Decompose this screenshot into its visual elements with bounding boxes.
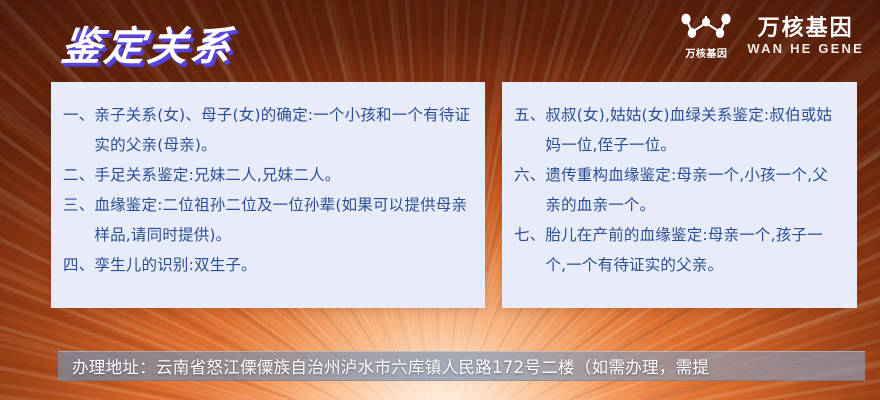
- molecule-nodes-icon: [679, 12, 733, 42]
- list-item-number: 七、: [514, 220, 545, 250]
- brand-name-cn: 万核基因: [758, 17, 854, 41]
- list-item-text: 胎儿在产前的血缘鉴定:母亲一个,孩子一个,一个有待证实的父亲。: [545, 220, 843, 280]
- list-item: 二、 手足关系鉴定:兄妹二人,兄妹二人。: [63, 160, 471, 190]
- brand-name-en: WAN HE GENE: [747, 42, 864, 56]
- list-item-text: 叔叔(女),姑姑(女)血绿关系鉴定:叔伯或姑妈一位,侄子一位。: [545, 100, 843, 160]
- list-item-number: 一、: [63, 100, 94, 130]
- address-banner: 办理地址：云南省怒江傈僳族自治州泸水市六库镇人民路172号二楼（如需办理，需提: [58, 351, 865, 381]
- list-item-number: 五、: [514, 100, 545, 130]
- list-item-text: 手足关系鉴定:兄妹二人,兄妹二人。: [94, 160, 471, 190]
- list-item-number: 三、: [63, 190, 94, 220]
- address-text: 办理地址：云南省怒江傈僳族自治州泸水市六库镇人民路172号二楼（如需办理，需提: [72, 354, 709, 378]
- list-item-text: 孪生儿的识别:双生子。: [94, 250, 471, 280]
- brand-wordmark: 万核基因 WAN HE GENE: [747, 17, 864, 55]
- list-item: 三、 血缘鉴定:二位祖孙二位及一位孙辈(如果可以提供母亲样品,请同时提供)。: [63, 190, 471, 250]
- relations-panel-right: 五、 叔叔(女),姑姑(女)血绿关系鉴定:叔伯或姑妈一位,侄子一位。 六、 遗传…: [502, 82, 857, 308]
- list-item: 四、 孪生儿的识别:双生子。: [63, 250, 471, 280]
- relations-panel-left: 一、 亲子关系(女)、母子(女)的确定:一个小孩和一个有待证实的父亲(母亲)。 …: [51, 82, 485, 308]
- list-item-text: 遗传重构血缘鉴定:母亲一个,小孩一个,父亲的血亲一个。: [545, 160, 843, 220]
- brand-mark-label: 万核基因: [685, 45, 727, 60]
- header: 鉴定关系: [0, 0, 880, 82]
- list-item-number: 四、: [63, 250, 94, 280]
- list-item-number: 六、: [514, 160, 545, 190]
- list-item-number: 二、: [63, 160, 94, 190]
- list-item: 六、 遗传重构血缘鉴定:母亲一个,小孩一个,父亲的血亲一个。: [514, 160, 843, 220]
- list-item: 七、 胎儿在产前的血缘鉴定:母亲一个,孩子一个,一个有待证实的父亲。: [514, 220, 843, 280]
- slide-root: 鉴定关系: [0, 0, 880, 400]
- list-item-text: 血缘鉴定:二位祖孙二位及一位孙辈(如果可以提供母亲样品,请同时提供)。: [94, 190, 471, 250]
- list-item: 一、 亲子关系(女)、母子(女)的确定:一个小孩和一个有待证实的父亲(母亲)。: [63, 100, 471, 160]
- brand-mark: 万核基因: [679, 12, 733, 60]
- list-item-text: 亲子关系(女)、母子(女)的确定:一个小孩和一个有待证实的父亲(母亲)。: [94, 100, 471, 160]
- page-title: 鉴定关系: [58, 14, 237, 72]
- list-item: 五、 叔叔(女),姑姑(女)血绿关系鉴定:叔伯或姑妈一位,侄子一位。: [514, 100, 843, 160]
- brand-logo: 万核基因 万核基因 WAN HE GENE: [679, 12, 864, 60]
